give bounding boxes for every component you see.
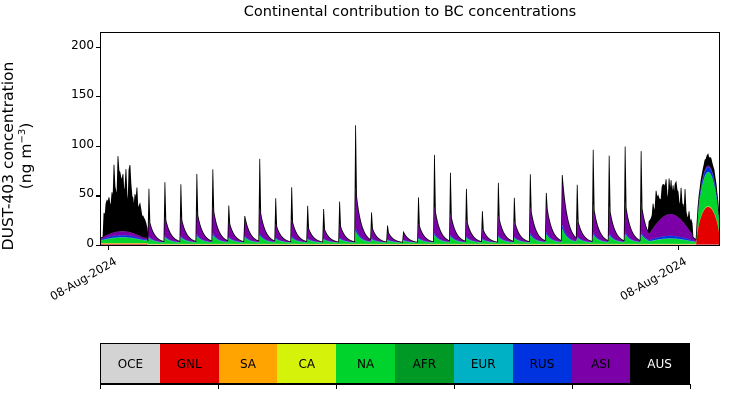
legend-item-label: RUS	[530, 357, 555, 371]
legend-tick-mark	[572, 384, 573, 389]
legend-item-label: NA	[357, 357, 374, 371]
y-axis-tick-labels: 050100150200	[58, 0, 94, 402]
legend-item-na[interactable]: NA	[336, 344, 395, 383]
legend-item-eur[interactable]: EUR	[454, 344, 513, 383]
legend-axis-line	[100, 384, 690, 385]
legend[interactable]: OCEGNLSACANAAFREURRUSASIAUS	[100, 343, 690, 384]
legend-tick-mark	[100, 384, 101, 389]
legend-item-label: CA	[298, 357, 315, 371]
stacked-area-series	[101, 33, 719, 245]
legend-item-label: GNL	[177, 357, 202, 371]
series-band-oce	[101, 245, 719, 246]
figure-canvas: Continental contribution to BC concentra…	[0, 0, 730, 402]
y-axis-label-line2: (ng m−3)	[17, 46, 36, 266]
legend-item-afr[interactable]: AFR	[395, 344, 454, 383]
legend-item-label: AFR	[413, 357, 436, 371]
legend-item-oce[interactable]: OCE	[101, 344, 160, 383]
x-axis-tick-mark	[108, 246, 109, 250]
legend-item-label: OCE	[118, 357, 143, 371]
x-axis-tick-label: 08-Aug-2024	[616, 254, 689, 304]
y-axis-label-unit-exponent: −3	[17, 129, 28, 144]
y-axis-label-unit-prefix: (ng m	[18, 144, 36, 190]
legend-item-label: AUS	[647, 357, 672, 371]
legend-item-aus[interactable]: AUS	[630, 344, 689, 383]
y-axis-tick-label: 0	[86, 237, 94, 249]
y-axis-tick-label: 200	[71, 39, 94, 51]
legend-tick-mark	[690, 384, 691, 389]
y-axis-tick-label: 100	[71, 138, 94, 150]
legend-item-asi[interactable]: ASI	[571, 344, 630, 383]
legend-tick-mark	[218, 384, 219, 389]
legend-item-label: EUR	[471, 357, 496, 371]
legend-item-gnl[interactable]: GNL	[160, 344, 219, 383]
y-axis-tick-label: 150	[71, 88, 94, 100]
legend-item-label: ASI	[591, 357, 610, 371]
legend-item-rus[interactable]: RUS	[513, 344, 572, 383]
legend-item-ca[interactable]: CA	[277, 344, 336, 383]
legend-item-sa[interactable]: SA	[219, 344, 278, 383]
y-axis-tick-label: 50	[79, 187, 94, 199]
legend-tick-mark	[454, 384, 455, 389]
y-axis-label: DUST-403 concentration (ng m−3)	[0, 46, 34, 266]
legend-tick-mark	[336, 384, 337, 389]
x-axis-tick-mark	[678, 246, 679, 250]
legend-item-label: SA	[240, 357, 256, 371]
plot-area	[100, 32, 720, 246]
chart-title: Continental contribution to BC concentra…	[100, 4, 720, 20]
y-axis-label-unit-suffix: )	[18, 123, 36, 129]
y-axis-label-line1: DUST-403 concentration	[0, 46, 17, 266]
